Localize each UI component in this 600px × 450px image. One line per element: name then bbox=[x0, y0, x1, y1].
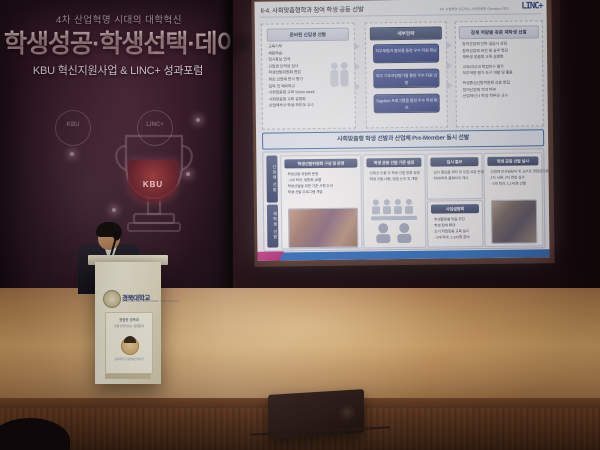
strategy-box-2: 직무 기초역량평가를 통한 우수 자원 선발 bbox=[373, 69, 439, 89]
slide-title: II-4. 사회맞춤형학과 참여 학생 공동 선발 bbox=[260, 4, 363, 14]
kbu-crest-badge: KBU bbox=[128, 160, 178, 202]
podium-university-name-en: KYUNGPOOK NATIONAL UNIVERSITY bbox=[122, 300, 180, 303]
panel-bullets: 인재상 도출 및 학생 선발 방향 설정 학생 선발 내용, 방법 논의 및 개… bbox=[367, 170, 421, 183]
podium: 경북대학교 KYUNGPOOK NATIONAL UNIVERSITY 청렴한 … bbox=[95, 262, 161, 384]
sparkle-icon bbox=[112, 208, 116, 212]
kbu-crest-label: KBU bbox=[128, 180, 178, 189]
university-emblem-icon bbox=[103, 290, 121, 308]
arrow-right-icon bbox=[446, 41, 452, 49]
sparkle-icon bbox=[70, 152, 74, 156]
panel-bullets: 입시 홍보물 제작 및 모집 요강 반영 학과/학칙 홈페이지 게시 bbox=[431, 169, 478, 182]
panel-bullets: 학생활동별 맞춤 추진 학생 참여 확대 조기 취업맞춤 교육 실시 - 5개 … bbox=[432, 216, 479, 241]
podium-notice-card: 청렴한 경북대 함께 만들어가는 청렴문화 경북대학교 청렴시민감사관 bbox=[105, 312, 153, 374]
linc-plus-logo: LINC+ bbox=[521, 1, 542, 11]
slide-blue-banner: 사회맞춤형 학생 선발과 산업체 Pre-Member 동시 선발 bbox=[262, 129, 544, 149]
panel-program-briefing: 사업설명회 학생활동별 맞춤 추진 학생 참여 확대 조기 취업맞춤 교육 실시… bbox=[427, 200, 484, 248]
panel-header: 학생 공동 선발 실사 bbox=[487, 156, 538, 166]
podium-crest: 경북대학교 KYUNGPOOK NATIONAL UNIVERSITY bbox=[103, 290, 153, 306]
panel-photo-interview bbox=[491, 199, 538, 244]
projection-screen: II-4. 사회맞춤형학과 참여 학생 공동 선발 4차 산업혁명 선도하는 사… bbox=[254, 0, 549, 261]
sparkle-icon bbox=[186, 172, 190, 176]
panel-bullets: 학생선발 위원회 운영 - 5개 학과, 위원회 18명 학생선발을 위한 기준… bbox=[286, 171, 358, 196]
arrow-right-icon bbox=[354, 63, 360, 71]
vertical-tab-freshmen: 신입생 선발 bbox=[266, 156, 278, 203]
bullet: 학생 선발 내용, 방법 논의 및 개발 bbox=[368, 176, 422, 183]
panel-admissions-promotion: 입시 홍보 입시 홍보물 제작 및 모집 요강 반영 학과/학칙 홈페이지 게시 bbox=[426, 153, 483, 200]
banner-subtitle: KBU 혁신지원사업 & LINC+ 성과포럼 bbox=[14, 62, 222, 78]
arrow-right-icon bbox=[354, 83, 360, 91]
podium-card-line3: 경북대학교 청렴시민감사관 bbox=[106, 357, 152, 361]
bullet: - 5개 학과, 1,341명 참여 bbox=[432, 234, 479, 241]
column-b-header: 세부전략 bbox=[370, 27, 442, 41]
slide-column-detailed-strategy: 세부전략 직무체험과 홍보를 통한 우수 자원 확보 직무 기초역량평가를 통한… bbox=[365, 21, 448, 128]
arrow-right-icon bbox=[354, 43, 360, 51]
panel-header: 사업설명회 bbox=[431, 204, 479, 214]
vertical-tab-enrolled: 재학생 선발 bbox=[267, 205, 279, 248]
slide-lower-section: 신입생 선발 재학생 선발 학생선발위원회 구성 및 운영 학생선발 위원회 운… bbox=[262, 148, 545, 251]
stage-floor-reflection bbox=[0, 288, 600, 408]
slide-column-prepared-freshmen: 준비된 신입생 선발 교육기부 체험학습 입시홍보 연계 신입생 인적성 검사 … bbox=[261, 23, 356, 130]
panel-header: 학생 공동 선발 기준 설정 bbox=[366, 158, 421, 168]
mascot-face-icon bbox=[121, 337, 139, 355]
strategy-box-3: Together 프로그램을 통한 우수 학생 확보 bbox=[374, 94, 440, 114]
column-c-header: 잠재 역량을 갖춘 재학생 선발 bbox=[459, 25, 539, 39]
sparkle-icon bbox=[196, 118, 200, 122]
kbu-seal-icon: KBU bbox=[55, 110, 91, 146]
panel-header: 입시 홍보 bbox=[430, 157, 478, 167]
slide-column-enrolled-students: 잠재 역량을 갖춘 재학생 선발 참여산업체 진학·실습사 상담 참여산업체 비… bbox=[455, 20, 544, 127]
panel-selection-committee: 학생선발위원회 구성 및 운영 학생선발 위원회 운영 - 5개 학과, 위원회… bbox=[280, 154, 362, 249]
audience-icon bbox=[369, 197, 422, 244]
arrow-right-icon bbox=[446, 81, 452, 89]
panel-joint-selection-review: 학생 공동 선발 실사 산업체 인사담당자 및 교수로 면접관으로 한 공동 면… bbox=[483, 152, 543, 247]
arrow-right-icon bbox=[446, 61, 452, 69]
column-c-bullets: 참여산업체 진학·실습사 상담 참여산업체 비전 및 실무 특강 재학생 맞춤형… bbox=[460, 40, 541, 100]
podium-base-strip bbox=[105, 374, 151, 379]
podium-card-line2: 함께 만들어가는 청렴문화 bbox=[106, 324, 152, 328]
photo-scene: KBU LINC+ KBU 4차 산업혁명 시대의 대학혁신 학생성공·학생선택… bbox=[0, 0, 600, 450]
bullet: 산업체부사 학생·학부모·교수 bbox=[267, 102, 351, 110]
strategy-box-1: 직무체험과 홍보를 통한 우수 자원 확보 bbox=[373, 44, 439, 64]
bullet: - 5개 학과, 1,141명 선발 bbox=[489, 180, 539, 187]
panel-selection-criteria: 학생 공동 선발 기준 설정 인재상 도출 및 학생 선발 방향 설정 학생 선… bbox=[362, 154, 426, 249]
panel-header: 학생선발위원회 구성 및 운영 bbox=[284, 159, 357, 169]
seal-left-label: KBU bbox=[56, 122, 90, 128]
slide-footer-accent bbox=[254, 251, 283, 260]
panel-photo-meeting bbox=[288, 208, 358, 249]
bullet: 산업체인사 학생·학부모·교수 bbox=[461, 92, 541, 100]
slide-header-tag: 4차 산업혁명 선도하는 사회맞춤형 Champion 양성 bbox=[440, 6, 509, 12]
column-a-bullets: 교육기부 체험학습 입시홍보 연계 신입생 인적성 검사 학생선발위원회 면접 … bbox=[266, 43, 351, 110]
bullet: 학생 선발 프로그램 개발 bbox=[286, 189, 358, 196]
bullet: 학과/학칙 홈페이지 게시 bbox=[432, 175, 479, 182]
panel-bullets: 산업체 인사담당자 및 교수로 면접관으로 한 공동 면접 실시 1차 서류, … bbox=[488, 168, 538, 187]
banner-title: 학생성공·학생선택·데이터 bbox=[4, 24, 232, 60]
column-a-header: 준비된 신입생 선발 bbox=[267, 28, 349, 42]
seal-right-label: LINC+ bbox=[138, 122, 172, 128]
podium-card-line1: 청렴한 경북대 bbox=[106, 317, 152, 322]
